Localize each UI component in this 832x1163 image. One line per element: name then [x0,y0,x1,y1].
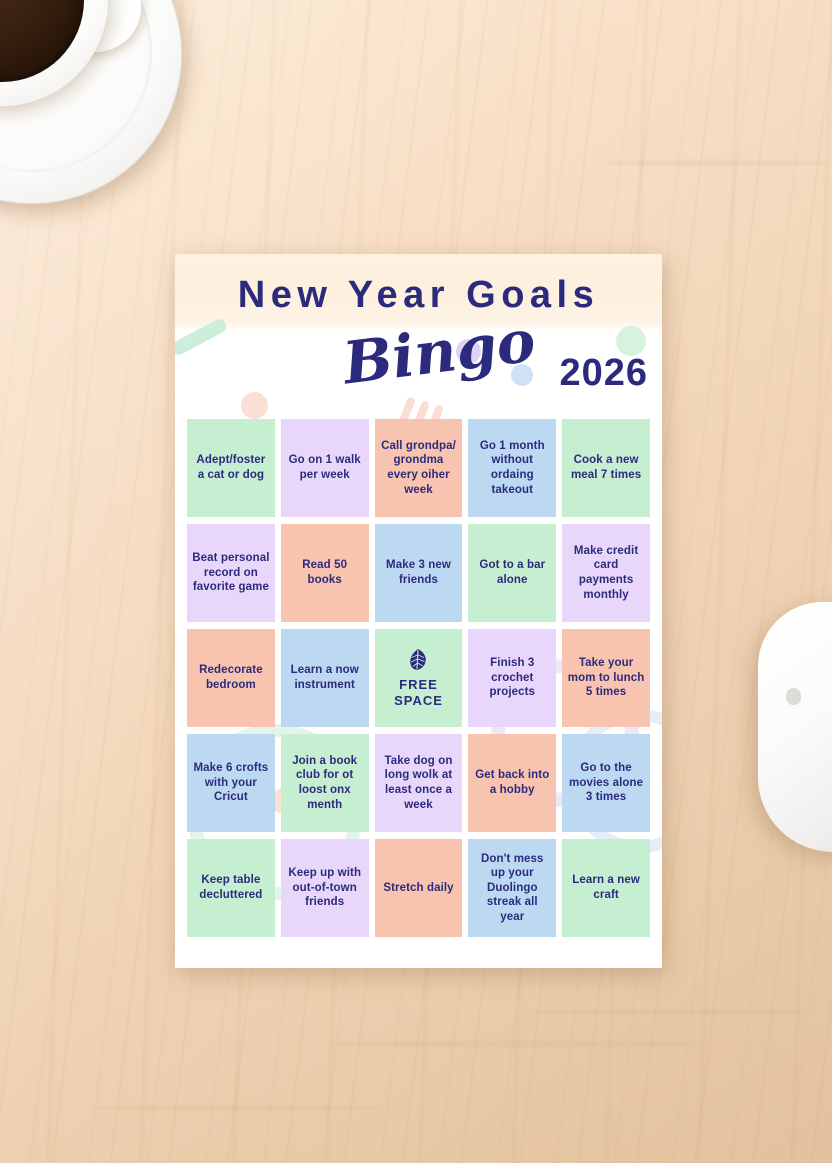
bingo-cell[interactable]: Call grondpa/ grondma every oiher week [375,419,463,517]
bingo-cell[interactable]: Learn a now instrument [281,629,369,727]
bingo-cell[interactable]: Don't mess up your Duolingo streak all y… [468,839,556,937]
bingo-cell-label: Go to the movies alone 3 times [567,761,645,805]
page-title: New Year Goals [175,274,662,317]
bingo-cell-label: Take your mom to lunch 5 times [567,656,645,700]
bingo-cell[interactable]: Cook a new meal 7 times [562,419,650,517]
bingo-cell[interactable]: Keep up with out-of-town friends [281,839,369,937]
bingo-cell-label: Join a book club for ot loost onx menth [286,754,364,812]
bingo-cell-label: Call grondpa/ grondma every oiher week [380,439,458,497]
bingo-cell[interactable]: Make 6 crofts with your Cricut [187,734,275,832]
bingo-cell-label: Make 3 new friends [380,558,458,587]
bingo-cell-label: Got to a bar alone [473,558,551,587]
bingo-cell-label: Finish 3 crochet projects [473,656,551,700]
bingo-cell-label: FREESPACE [394,677,443,708]
bingo-cell[interactable]: Read 50 books [281,524,369,622]
bingo-cell[interactable]: Keep table decluttered [187,839,275,937]
mouse-logo-icon [786,688,801,705]
bingo-cell-label: Stretch daily [383,881,453,896]
bingo-cell[interactable]: Go to the movies alone 3 times [562,734,650,832]
bingo-cell-label: Don't mess up your Duolingo streak all y… [473,852,551,925]
bingo-cell-label: Go 1 month without ordaing takeout [473,439,551,497]
bingo-cell-label: Beat personal record on favorite game [192,551,270,595]
bingo-cell[interactable]: Learn a new craft [562,839,650,937]
computer-mouse [758,602,832,852]
bingo-cell-label: Take dog on long wolk at least once a we… [380,754,458,812]
bingo-cell[interactable]: Finish 3 crochet projects [468,629,556,727]
bingo-cell[interactable]: Adept/foster a cat or dog [187,419,275,517]
bingo-cell-label: Learn a new craft [567,873,645,902]
wood-grain-streak [600,160,830,166]
bingo-cell-label: Read 50 books [286,558,364,587]
bingo-card: New Year Goals Bingo 2026 Adept/foster a… [175,254,662,968]
bingo-cell[interactable]: Got to a bar alone [468,524,556,622]
year-label: 2026 [559,352,648,395]
bingo-cell-label: Cook a new meal 7 times [567,453,645,482]
bingo-cell[interactable]: Go 1 month without ordaing takeout [468,419,556,517]
wood-grain-streak [90,1105,390,1110]
bingo-cell-label: Make credit card payments monthly [567,544,645,602]
wood-grain-streak [330,1040,710,1047]
coffee-cup [0,0,182,204]
bingo-cell-label: Make 6 crofts with your Cricut [192,761,270,805]
bingo-cell[interactable]: Go on 1 walk per week [281,419,369,517]
bingo-grid: Adept/foster a cat or dogGo on 1 walk pe… [187,419,650,937]
bingo-cell[interactable]: Join a book club for ot loost onx menth [281,734,369,832]
bingo-cell-label: Adept/foster a cat or dog [192,453,270,482]
bingo-cell[interactable]: Take your mom to lunch 5 times [562,629,650,727]
bingo-cell-label: Get back into a hobby [473,768,551,797]
bingo-cell[interactable]: Beat personal record on favorite game [187,524,275,622]
leaf-icon [408,648,428,672]
bingo-cell[interactable]: Take dog on long wolk at least once a we… [375,734,463,832]
bingo-cell[interactable]: Stretch daily [375,839,463,937]
bingo-cell-free-space[interactable]: FREESPACE [375,629,463,727]
bingo-cell-label: Redecorate bedroom [192,663,270,692]
bingo-cell-label: Go on 1 walk per week [286,453,364,482]
bingo-cell[interactable]: Make credit card payments monthly [562,524,650,622]
bingo-cell-label: Keep table decluttered [192,873,270,902]
wood-grain-streak [520,1010,820,1015]
bingo-cell[interactable]: Get back into a hobby [468,734,556,832]
bingo-cell-label: Keep up with out-of-town friends [286,866,364,910]
bingo-cell[interactable]: Redecorate bedroom [187,629,275,727]
bingo-cell-label: Learn a now instrument [286,663,364,692]
confetti-dot-pink [241,392,268,419]
bingo-cell[interactable]: Make 3 new friends [375,524,463,622]
